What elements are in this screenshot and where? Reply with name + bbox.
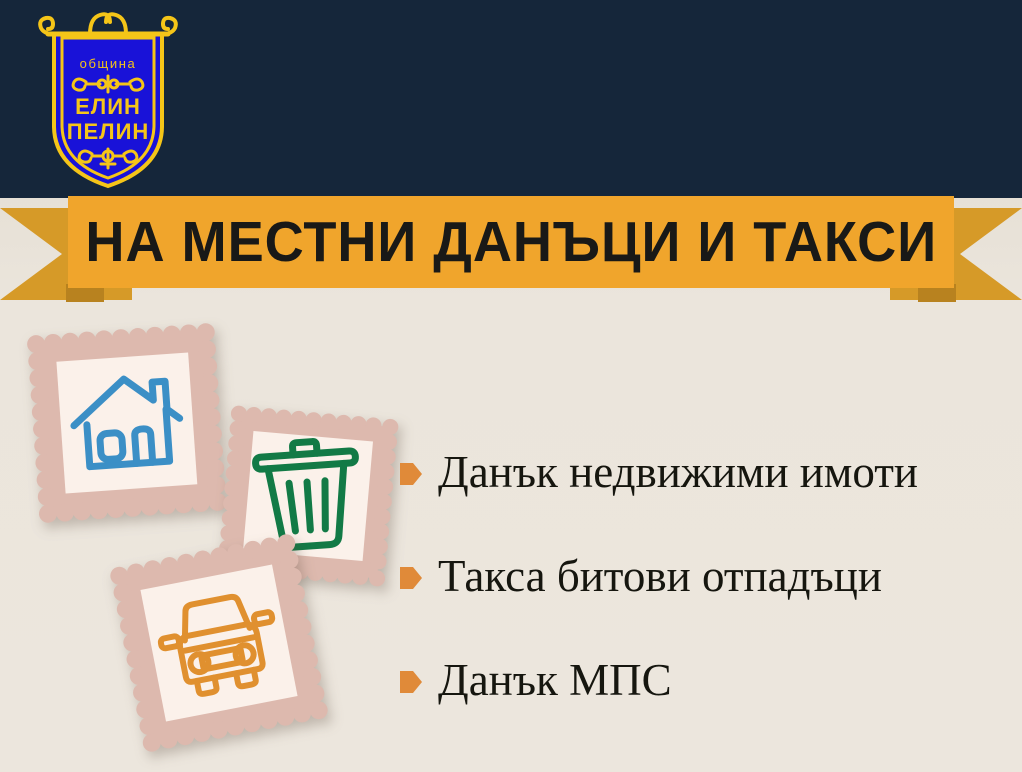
ribbon-label: НА МЕСТНИ ДАНЪЦИ И ТАКСИ [85,213,937,271]
logo-text-obshtina: община [80,56,137,71]
list-item-label: Данък МПС [438,655,672,705]
stamp-card-vehicle-tax [104,528,334,758]
logo-text-elin: ЕЛИН [75,94,141,119]
tax-types-list: Данък недвижими имоти Такса битови отпад… [400,420,1010,732]
ribbon-main-panel: НА МЕСТНИ ДАНЪЦИ И ТАКСИ [68,196,954,288]
stamp-card-property-tax [16,312,238,538]
logo-text-pelin: ПЕЛИН [67,119,150,144]
municipality-logo: община ЕЛИН ПЕЛИН [28,8,188,190]
coat-of-arms-icon: община ЕЛИН ПЕЛИН [28,8,188,190]
list-item[interactable]: Такса битови отпадъци [400,524,1010,628]
list-item-label: Данък недвижими имоти [438,447,918,497]
poster-root: ПРОВЕРКА И ПЛАЩАНЕ НА ЗАДЪЛЖЕНИЯ община [0,0,1022,772]
list-item[interactable]: Данък недвижими имоти [400,420,1010,524]
arrow-bullet-icon [400,669,422,695]
arrow-bullet-icon [400,461,422,487]
list-item[interactable]: Данък МПС [400,628,1010,732]
list-item-label: Такса битови отпадъци [438,551,882,601]
arrow-bullet-icon [400,565,422,591]
ribbon-banner: НА МЕСТНИ ДАНЪЦИ И ТАКСИ [0,196,1022,308]
